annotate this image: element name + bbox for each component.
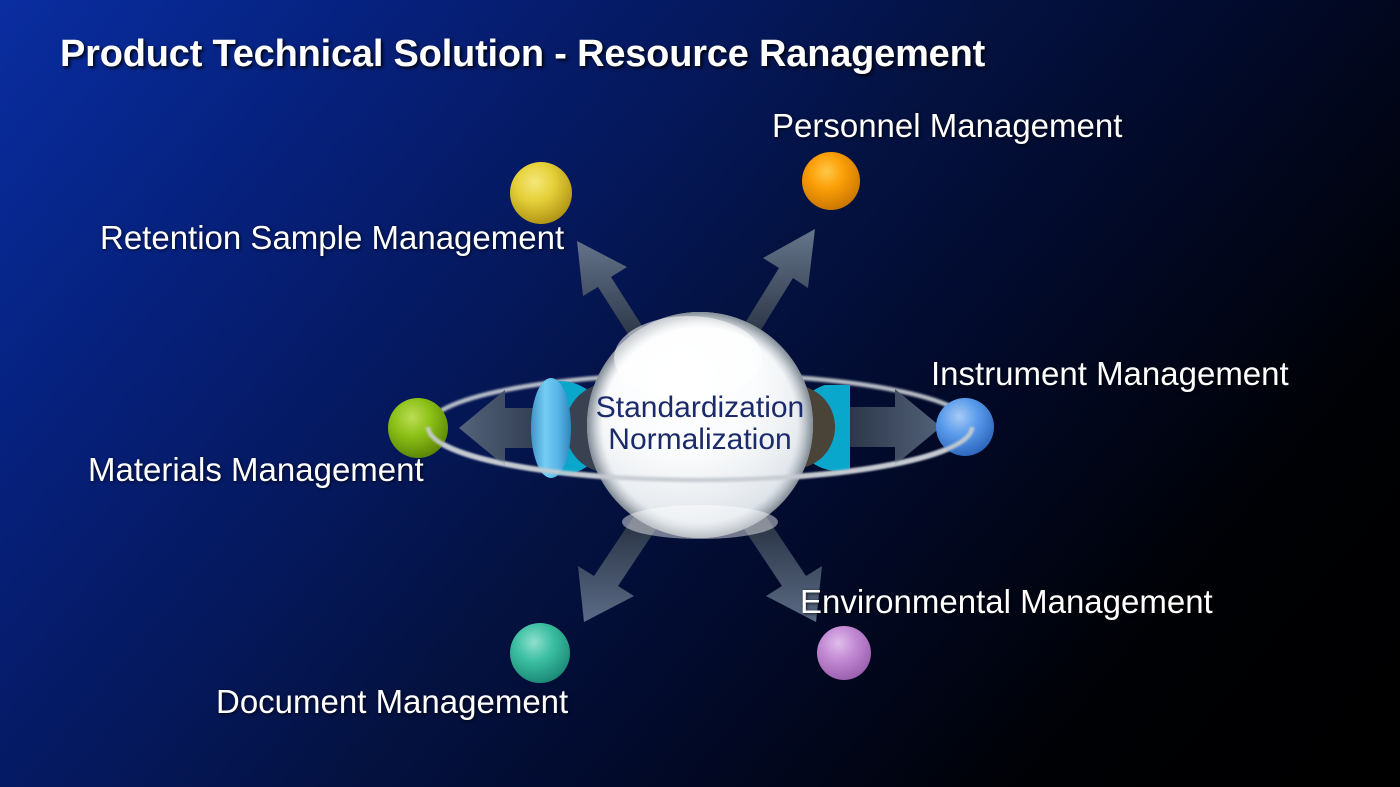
label-instrument-management[interactable]: Instrument Management	[931, 357, 1289, 390]
node-sphere-environmental[interactable]	[817, 626, 871, 680]
central-label-line2: Normalization	[570, 424, 830, 456]
node-sphere-retention-sample[interactable]	[510, 162, 572, 224]
label-environmental-management[interactable]: Environmental Management	[800, 585, 1213, 618]
central-label-line1: Standardization	[570, 392, 830, 424]
node-sphere-instrument[interactable]	[936, 398, 994, 456]
label-document-management[interactable]: Document Management	[216, 685, 568, 718]
node-sphere-document[interactable]	[510, 623, 570, 683]
node-sphere-personnel[interactable]	[802, 152, 860, 210]
label-retention-sample-management[interactable]: Retention Sample Management	[100, 221, 564, 254]
accent-ellipse-left	[531, 378, 571, 478]
page-title: Product Technical Solution - Resource Ra…	[60, 33, 985, 76]
node-sphere-materials[interactable]	[388, 398, 448, 458]
label-materials-management[interactable]: Materials Management	[88, 453, 424, 486]
central-sphere-label: Standardization Normalization	[570, 392, 830, 456]
slide-canvas: Product Technical Solution - Resource Ra…	[0, 0, 1400, 787]
label-personnel-management[interactable]: Personnel Management	[772, 109, 1122, 142]
